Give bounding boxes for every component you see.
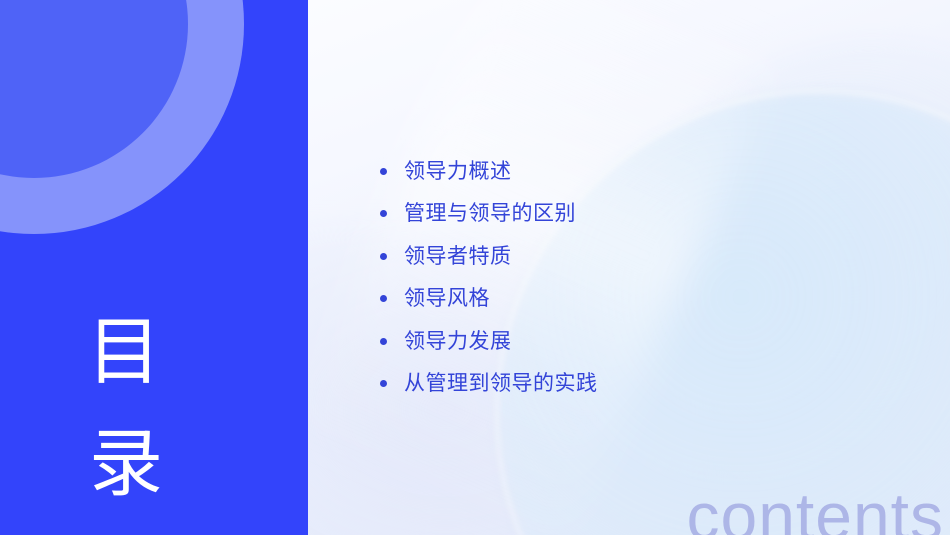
list-item-label: 领导者特质 (404, 246, 512, 267)
list-item-label: 领导风格 (404, 288, 490, 309)
list-item-label: 从管理到领导的实践 (404, 373, 598, 394)
bullet-dot-icon (380, 338, 387, 345)
bullet-dot-icon (380, 253, 387, 260)
left-blue-panel: 目 录 (0, 0, 308, 535)
list-item[interactable]: 领导风格 (380, 278, 598, 321)
list-item[interactable]: 从管理到领导的实践 (380, 363, 598, 406)
watermark-contents: contents (687, 483, 945, 535)
bullet-dot-icon (380, 210, 387, 217)
page-title: 目 录 (0, 296, 250, 520)
list-item[interactable]: 管理与领导的区别 (380, 193, 598, 236)
bullet-dot-icon (380, 380, 387, 387)
page-title-char-1: 目 (0, 296, 250, 408)
table-of-contents-list: 领导力概述 管理与领导的区别 领导者特质 领导风格 领导力发展 从管理到领导的实… (380, 150, 598, 405)
list-item[interactable]: 领导力发展 (380, 320, 598, 363)
list-item-label: 领导力发展 (404, 331, 512, 352)
slide-root: 目 录 领导力概述 管理与领导的区别 领导者特质 领导风格 领导力发展 从管理到… (0, 0, 950, 535)
bullet-dot-icon (380, 168, 387, 175)
page-title-char-2: 录 (4, 408, 250, 520)
list-item[interactable]: 领导者特质 (380, 235, 598, 278)
list-item-label: 领导力概述 (404, 161, 512, 182)
list-item[interactable]: 领导力概述 (380, 150, 598, 193)
bullet-dot-icon (380, 295, 387, 302)
list-item-label: 管理与领导的区别 (404, 203, 576, 224)
